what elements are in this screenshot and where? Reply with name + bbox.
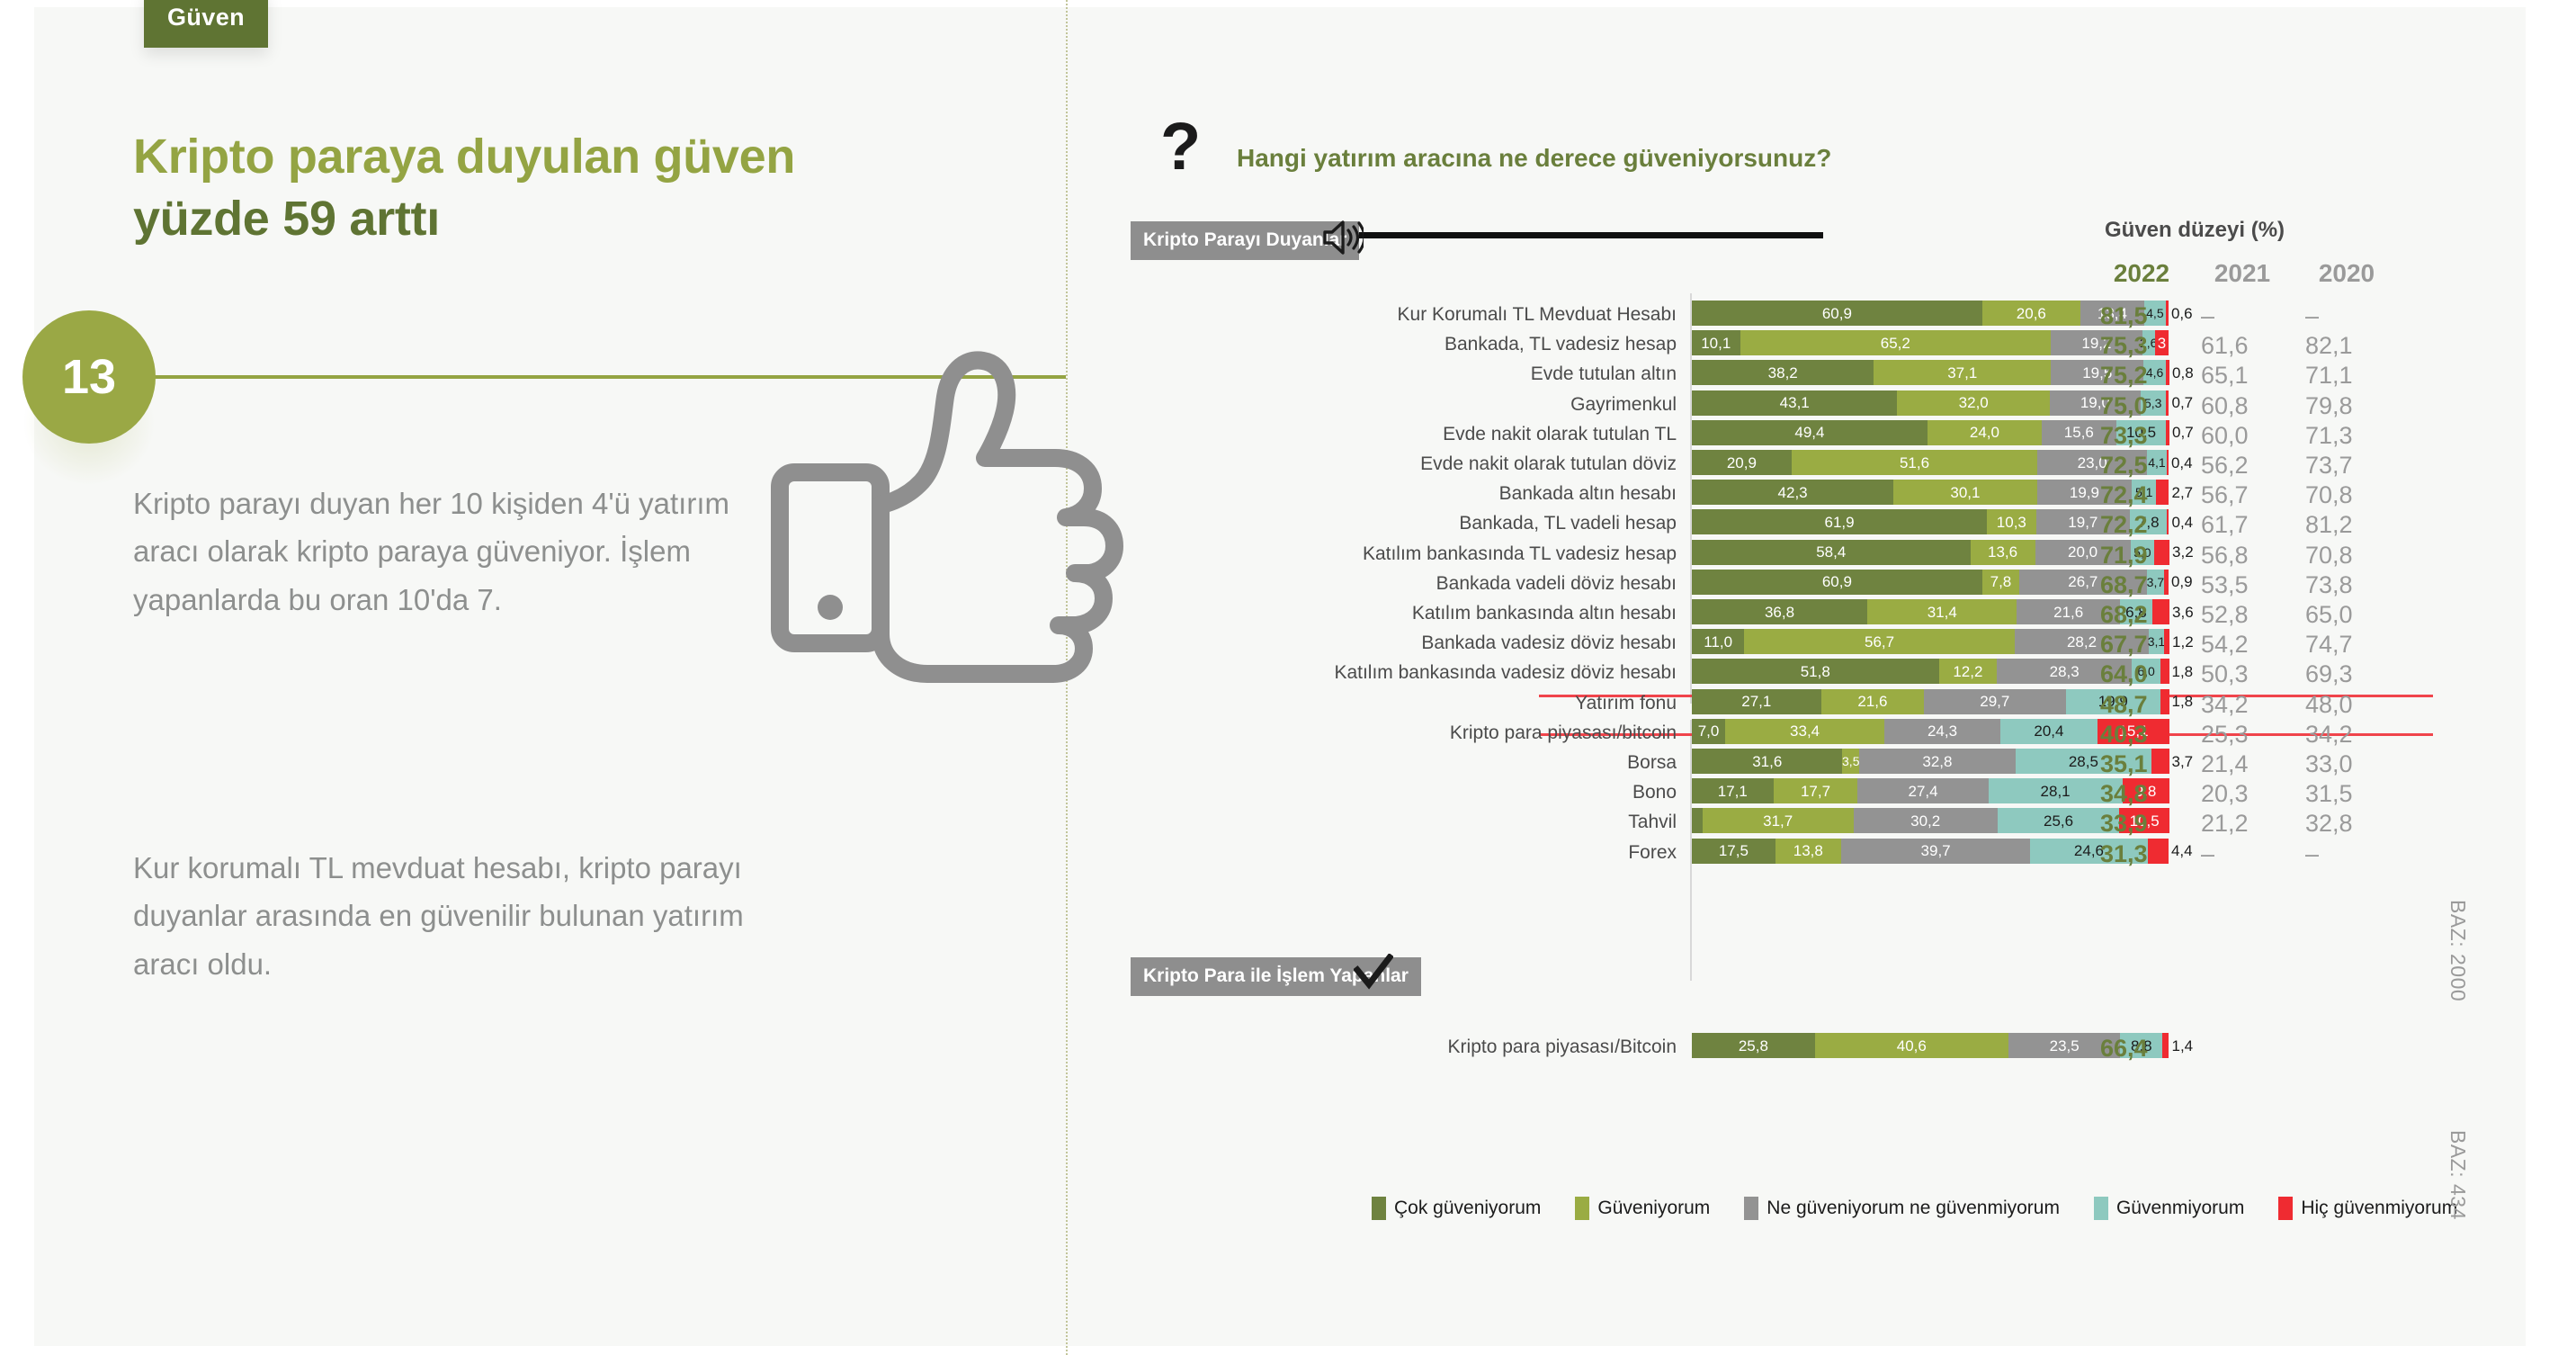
bar-segment: 27,1 bbox=[1692, 689, 1821, 714]
bar-segment: 12,2 bbox=[1939, 659, 1998, 684]
chart-value-2020: 79,8 bbox=[2305, 392, 2388, 420]
legend-label: Hiç güvenmiyorum bbox=[2301, 1198, 2457, 1219]
bar-track: 51,812,228,36,01,8 bbox=[1692, 659, 2169, 684]
bar-segment: 38,2 bbox=[1692, 360, 1874, 385]
chart-value-2020: 82,1 bbox=[2305, 332, 2388, 360]
chart-row-label: Katılım bankasında vadesiz döviz hesabı bbox=[1209, 662, 1677, 684]
bar-segment: 56,7 bbox=[1744, 629, 2015, 654]
chart-row: Evde nakit olarak tutulan TL49,424,015,6… bbox=[1066, 420, 2576, 451]
bar-track: 49,424,015,610,50,7 bbox=[1692, 420, 2169, 445]
chart-row-label: Evde nakit olarak tutulan döviz bbox=[1209, 453, 1677, 475]
bar-segment: 25,8 bbox=[1692, 1033, 1815, 1058]
chart-value-2021: 61,6 bbox=[2201, 332, 2284, 360]
chart-row-label: Tahvil bbox=[1209, 812, 1677, 833]
chart-value-2020: 34,2 bbox=[2305, 721, 2388, 749]
slide-number-badge: 13 bbox=[22, 310, 156, 444]
chart-row: Katılım bankasında TL vadesiz hesap58,41… bbox=[1066, 540, 2576, 570]
bar-segment: 13,6 bbox=[1971, 540, 2035, 565]
chart-row: Evde tutulan altın38,237,119,54,60,875,2… bbox=[1066, 360, 2576, 390]
bar-track: 10,165,219,22,63 bbox=[1692, 330, 2169, 355]
chart-value-2022: 75,3 bbox=[2100, 332, 2183, 360]
chart-value-2021: 21,2 bbox=[2201, 810, 2284, 838]
body-paragraph-1: Kripto parayı duyan her 10 kişiden 4'ü y… bbox=[133, 480, 763, 624]
legend-swatch bbox=[2094, 1197, 2108, 1220]
bar-segment: 10,3 bbox=[1987, 509, 2036, 534]
chart-row: Gayrimenkul43,132,019,05,30,775,060,879,… bbox=[1066, 390, 2576, 421]
bar-track: 11,056,728,23,11,2 bbox=[1692, 629, 2169, 654]
chart-value-2022: 48,7 bbox=[2100, 691, 2183, 719]
bar-segment: 30,2 bbox=[1854, 808, 1998, 833]
chart-row: Bono17,117,727,428,19,834,820,331,5 bbox=[1066, 778, 2576, 809]
chart-value-2022: 64,0 bbox=[2100, 660, 2183, 688]
bar-segment: 31,4 bbox=[1867, 599, 2017, 624]
chart-value-2022: 81,5 bbox=[2100, 302, 2183, 330]
bar-segment: 20,4 bbox=[2000, 719, 2097, 744]
chart-value-2020: 69,3 bbox=[2305, 660, 2388, 688]
chart-row: Kripto para piyasası/bitcoin7,033,424,32… bbox=[1066, 719, 2576, 749]
thumbs-up-icon bbox=[769, 337, 1147, 715]
bar-track: 20,951,623,04,10,4 bbox=[1692, 450, 2169, 475]
bar-segment: 13,8 bbox=[1775, 839, 1841, 864]
chart-value-2021: 60,8 bbox=[2201, 392, 2284, 420]
bar-segment: 31,6 bbox=[1692, 749, 1842, 774]
bar-segment: 60,9 bbox=[1692, 301, 1982, 326]
bar-track: 7,033,424,320,415,1 bbox=[1692, 719, 2169, 744]
chart-value-2020: 73,7 bbox=[2305, 452, 2388, 480]
chart-value-2020: 32,8 bbox=[2305, 810, 2388, 838]
chart-value-2020: 48,0 bbox=[2305, 691, 2388, 719]
chart-value-2021: 56,2 bbox=[2201, 452, 2284, 480]
chart-value-2021: 25,3 bbox=[2201, 721, 2284, 749]
bar-track: 31,63,532,828,53,7 bbox=[1692, 749, 2169, 774]
chart-row-label: Kripto para piyasası/Bitcoin bbox=[1209, 1036, 1677, 1058]
chart-row: Bankada, TL vadesiz hesap10,165,219,22,6… bbox=[1066, 330, 2576, 361]
chart-value-2020: 81,2 bbox=[2305, 511, 2388, 539]
chart-value-2022: 66,4 bbox=[2100, 1035, 2183, 1063]
bar-segment: 2,2 bbox=[1692, 808, 1703, 833]
legend-item: Güvenmiyorum bbox=[2094, 1197, 2244, 1220]
bar-segment: 24,0 bbox=[1928, 420, 2042, 445]
chart-row: Tahvil2,231,730,225,610,533,921,232,8 bbox=[1066, 808, 2576, 839]
bar-segment: 17,1 bbox=[1692, 778, 1774, 803]
bar-track: 43,132,019,05,30,7 bbox=[1692, 390, 2169, 416]
bar-segment: 33,4 bbox=[1725, 719, 1884, 744]
chart-value-2021: 20,3 bbox=[2201, 780, 2284, 808]
chart-row-label: Yatırım fonu bbox=[1209, 693, 1677, 714]
chart-row: Kur Korumalı TL Mevduat Hesabı60,920,613… bbox=[1066, 301, 2576, 331]
chart-value-2020: 74,7 bbox=[2305, 631, 2388, 659]
bar-segment: 10,1 bbox=[1692, 330, 1740, 355]
baz-label-group2: BAZ: 434 bbox=[2446, 1130, 2470, 1220]
chart-value-2022: 35,1 bbox=[2100, 750, 2183, 778]
page-title: Kripto paraya duyulan güven yüzde 59 art… bbox=[133, 126, 907, 250]
bar-segment: 21,6 bbox=[1821, 689, 1924, 714]
bar-segment: 24,3 bbox=[1884, 719, 2000, 744]
section-tab: Güven bbox=[144, 0, 268, 48]
bar-segment: 17,7 bbox=[1774, 778, 1858, 803]
bar-segment: 11,0 bbox=[1692, 629, 1744, 654]
chart-value-2021: 50,3 bbox=[2201, 660, 2284, 688]
legend-swatch bbox=[1372, 1197, 1386, 1220]
bar-track: 61,910,319,77,80,4 bbox=[1692, 509, 2169, 534]
chart-value-2021: – bbox=[2201, 840, 2284, 868]
bar-segment: 43,1 bbox=[1692, 390, 1897, 416]
bar-track: 2,231,730,225,610,5 bbox=[1692, 808, 2169, 833]
legend-swatch bbox=[2278, 1197, 2293, 1220]
chart-value-2021: 60,0 bbox=[2201, 422, 2284, 450]
bar-segment: 3,5 bbox=[1842, 749, 1859, 774]
bar-track: 38,237,119,54,60,8 bbox=[1692, 360, 2169, 385]
legend-item: Güveniyorum bbox=[1575, 1197, 1710, 1220]
chart-row: Evde nakit olarak tutulan döviz20,951,62… bbox=[1066, 450, 2576, 480]
chart-value-2020: 73,8 bbox=[2305, 571, 2388, 599]
slide-canvas: Güven Kripto paraya duyulan güven yüzde … bbox=[0, 0, 2576, 1355]
chart-value-2021: 56,7 bbox=[2201, 481, 2284, 509]
bar-segment: 36,8 bbox=[1692, 599, 1867, 624]
chart-value-2022: 67,7 bbox=[2100, 631, 2183, 659]
chart-row: Borsa31,63,532,828,53,735,121,433,0 bbox=[1066, 749, 2576, 779]
chart-row: Katılım bankasında altın hesabı36,831,42… bbox=[1066, 599, 2576, 630]
legend-label: Çok güveniyorum bbox=[1394, 1198, 1541, 1219]
bar-segment: 31,7 bbox=[1703, 808, 1854, 833]
bar-track: 60,920,613,44,50,6 bbox=[1692, 301, 2169, 326]
bar-segment: 7,8 bbox=[1982, 570, 2019, 595]
chart-value-2021: 52,8 bbox=[2201, 601, 2284, 629]
legend-item: Ne güveniyorum ne güvenmiyorum bbox=[1744, 1197, 2060, 1220]
bar-segment: 60,9 bbox=[1692, 570, 1982, 595]
chart-row: Forex17,513,839,724,64,431,3–– bbox=[1066, 839, 2576, 869]
chart-row: Bankada altın hesabı42,330,119,95,12,772… bbox=[1066, 480, 2576, 510]
legend-item: Hiç güvenmiyorum bbox=[2278, 1197, 2457, 1220]
bar-segment: 37,1 bbox=[1874, 360, 2051, 385]
chart-value-2021: 54,2 bbox=[2201, 631, 2284, 659]
left-panel: Kripto paraya duyulan güven yüzde 59 art… bbox=[0, 0, 1066, 1355]
chart-value-2022: 31,3 bbox=[2100, 840, 2183, 868]
chart-value-2022: 73,3 bbox=[2100, 422, 2183, 450]
bar-segment: 7,0 bbox=[1692, 719, 1725, 744]
chart-value-2022: 72,2 bbox=[2100, 511, 2183, 539]
bar-segment: 20,9 bbox=[1692, 450, 1792, 475]
chart-value-2021: 34,2 bbox=[2201, 691, 2284, 719]
stacked-bar-chart: Kur Korumalı TL Mevduat Hesabı60,920,613… bbox=[1066, 0, 2576, 1355]
chart-value-2020: 31,5 bbox=[2305, 780, 2388, 808]
chart-row-label: Forex bbox=[1209, 842, 1677, 864]
chart-row-label: Bankada vadesiz döviz hesabı bbox=[1209, 633, 1677, 654]
bar-segment: 49,4 bbox=[1692, 420, 1928, 445]
chart-row-label: Evde nakit olarak tutulan TL bbox=[1209, 424, 1677, 445]
legend-label: Ne güveniyorum ne güvenmiyorum bbox=[1767, 1198, 2060, 1219]
baz-label-group1: BAZ: 2000 bbox=[2446, 900, 2470, 1001]
bar-track: 58,413,620,05,03,2 bbox=[1692, 540, 2169, 565]
chart-row-label: Bankada, TL vadeli hesap bbox=[1209, 513, 1677, 534]
chart-value-2022: 72,5 bbox=[2100, 452, 2183, 480]
bar-segment: 65,2 bbox=[1740, 330, 2052, 355]
chart-row-label: Katılım bankasında TL vadesiz hesap bbox=[1209, 543, 1677, 565]
bar-segment: 40,6 bbox=[1815, 1033, 2008, 1058]
chart-value-2020: 33,0 bbox=[2305, 750, 2388, 778]
chart-value-2022: 75,2 bbox=[2100, 362, 2183, 390]
chart-row: Katılım bankasında vadesiz döviz hesabı5… bbox=[1066, 659, 2576, 689]
chart-row-label: Bankada, TL vadesiz hesap bbox=[1209, 334, 1677, 355]
chart-row-label: Bono bbox=[1209, 782, 1677, 803]
chart-row-label: Bankada altın hesabı bbox=[1209, 483, 1677, 505]
chart-row-label: Kripto para piyasası/bitcoin bbox=[1209, 722, 1677, 744]
page-title-dark: yüzde 59 arttı bbox=[133, 192, 440, 246]
chart-value-2022: 34,8 bbox=[2100, 780, 2183, 808]
chart-value-2022: 72,4 bbox=[2100, 481, 2183, 509]
chart-row: Bankada, TL vadeli hesap61,910,319,77,80… bbox=[1066, 509, 2576, 540]
chart-row-label: Evde tutulan altın bbox=[1209, 363, 1677, 385]
chart-value-2020: 70,8 bbox=[2305, 481, 2388, 509]
chart-value-2022: 68,2 bbox=[2100, 601, 2183, 629]
chart-value-2021: 61,7 bbox=[2201, 511, 2284, 539]
bar-track: 42,330,119,95,12,7 bbox=[1692, 480, 2169, 505]
bar-track: 17,513,839,724,64,4 bbox=[1692, 839, 2169, 864]
bar-segment: 51,8 bbox=[1692, 659, 1939, 684]
chart-row: Kripto para piyasası/Bitcoin25,840,623,5… bbox=[1066, 1033, 2576, 1063]
bar-segment: 42,3 bbox=[1692, 480, 1893, 505]
legend-swatch bbox=[1744, 1197, 1758, 1220]
bar-track: 27,121,629,719,91,8 bbox=[1692, 689, 2169, 714]
chart-value-2022: 71,9 bbox=[2100, 542, 2183, 570]
legend-label: Güvenmiyorum bbox=[2116, 1198, 2244, 1219]
bar-track: 36,831,421,66,83,6 bbox=[1692, 599, 2169, 624]
chart-value-2022: 33,9 bbox=[2100, 810, 2183, 838]
page-title-light: Kripto paraya duyulan güven bbox=[133, 130, 795, 184]
chart-value-2020: 70,8 bbox=[2305, 542, 2388, 570]
chart-value-2022: 68,7 bbox=[2100, 571, 2183, 599]
chart-value-2020: – bbox=[2305, 840, 2388, 868]
chart-legend: Çok güveniyorumGüveniyorumNe güveniyorum… bbox=[1372, 1197, 2457, 1220]
chart-value-2020: 65,0 bbox=[2305, 601, 2388, 629]
chart-row-label: Borsa bbox=[1209, 752, 1677, 774]
bar-segment: 51,6 bbox=[1792, 450, 2037, 475]
chart-value-2020: 71,1 bbox=[2305, 362, 2388, 390]
bar-segment: 39,7 bbox=[1841, 839, 2030, 864]
bar-segment: 32,0 bbox=[1897, 390, 2050, 416]
chart-value-2020: 71,3 bbox=[2305, 422, 2388, 450]
chart-row: Bankada vadesiz döviz hesabı11,056,728,2… bbox=[1066, 629, 2576, 660]
bar-segment: 29,7 bbox=[1924, 689, 2065, 714]
legend-swatch bbox=[1575, 1197, 1589, 1220]
body-paragraph-2: Kur korumalı TL mevduat hesabı, kripto p… bbox=[133, 844, 763, 988]
chart-value-2021: 53,5 bbox=[2201, 571, 2284, 599]
bar-segment: 20,6 bbox=[1982, 301, 2080, 326]
right-panel: ? Hangi yatırım aracına ne derece güveni… bbox=[1066, 0, 2576, 1355]
bar-segment: 61,9 bbox=[1692, 509, 1987, 534]
bar-track: 60,97,826,73,70,9 bbox=[1692, 570, 2169, 595]
bar-track: 25,840,623,58,81,4 bbox=[1692, 1033, 2169, 1058]
chart-row: Yatırım fonu27,121,629,719,91,848,734,24… bbox=[1066, 689, 2576, 720]
chart-value-2022: 75,0 bbox=[2100, 392, 2183, 420]
chart-value-2021: 21,4 bbox=[2201, 750, 2284, 778]
chart-row-label: Kur Korumalı TL Mevduat Hesabı bbox=[1209, 304, 1677, 326]
legend-item: Çok güveniyorum bbox=[1372, 1197, 1541, 1220]
chart-value-2022: 40,3 bbox=[2100, 721, 2183, 749]
chart-value-2021: – bbox=[2201, 302, 2284, 330]
bar-segment: 32,8 bbox=[1859, 749, 2016, 774]
bar-segment: 17,5 bbox=[1692, 839, 1775, 864]
chart-value-2020: – bbox=[2305, 302, 2388, 330]
bar-track: 17,117,727,428,19,8 bbox=[1692, 778, 2169, 803]
bar-segment: 58,4 bbox=[1692, 540, 1971, 565]
legend-label: Güveniyorum bbox=[1597, 1198, 1710, 1219]
bar-segment: 27,4 bbox=[1857, 778, 1988, 803]
chart-value-2021: 65,1 bbox=[2201, 362, 2284, 390]
chart-row-label: Gayrimenkul bbox=[1209, 394, 1677, 416]
chart-value-2021: 56,8 bbox=[2201, 542, 2284, 570]
chart-row-label: Bankada vadeli döviz hesabı bbox=[1209, 573, 1677, 595]
chart-row: Bankada vadeli döviz hesabı60,97,826,73,… bbox=[1066, 570, 2576, 600]
chart-row-label: Katılım bankasında altın hesabı bbox=[1209, 603, 1677, 624]
bar-segment: 30,1 bbox=[1893, 480, 2037, 505]
